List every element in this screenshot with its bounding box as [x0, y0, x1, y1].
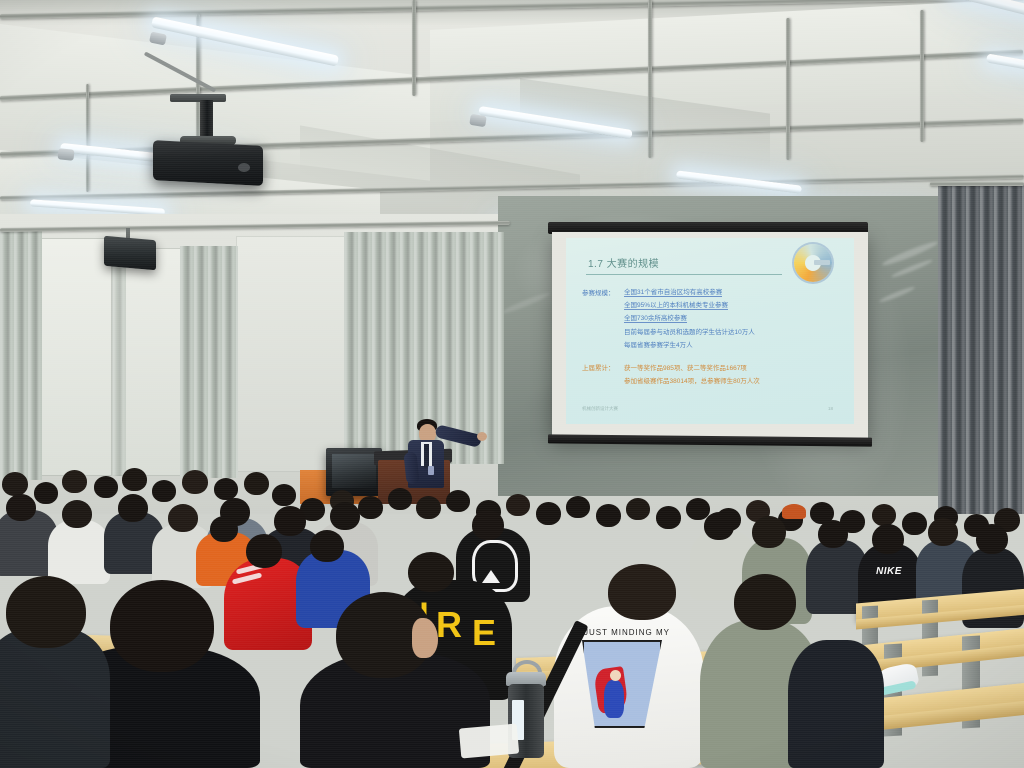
- student-head: [122, 468, 147, 491]
- student-head: [168, 504, 198, 532]
- student-head: [566, 496, 590, 518]
- student-head: [902, 512, 927, 535]
- student-head: [446, 490, 470, 512]
- student-head: [274, 506, 306, 536]
- student-head: [608, 564, 676, 620]
- projector-lens: [238, 163, 250, 172]
- nike-logo-text: NIKE: [876, 566, 902, 577]
- slide-body-line: 全国31个省市自治区均有高校参赛: [624, 286, 722, 297]
- curtain-left: [0, 230, 42, 480]
- slide-footer-left: 机械创新设计大赛: [582, 406, 618, 412]
- student-head: [246, 534, 282, 568]
- student-head: [928, 518, 958, 546]
- student-head: [358, 496, 383, 519]
- paper-sheet: [459, 724, 519, 759]
- slide-section-label: 参赛规模：: [582, 287, 615, 297]
- slide-body-line: 参加省级赛作品38014项，总参赛师生80万人次: [624, 375, 760, 385]
- student-head: [152, 480, 176, 502]
- slide-body-line: 全国95%以上的本科机械类专业参赛: [624, 299, 728, 310]
- slide-title-rule: [586, 274, 782, 275]
- student-head: [330, 502, 360, 530]
- conduit-pipe: [786, 18, 790, 160]
- student-head: [872, 504, 896, 526]
- student-head: [416, 496, 441, 519]
- wall-speaker: [104, 236, 156, 271]
- student-body: [788, 640, 884, 768]
- projector-mount-plate: [170, 94, 226, 102]
- presenter-badge: [428, 466, 434, 475]
- ceiling-light-cap: [57, 148, 74, 161]
- hero-suit: [604, 680, 624, 718]
- tee-slogan: JUST MINDING MY: [584, 628, 670, 637]
- student-head: [2, 472, 28, 496]
- curtain-rail: [930, 182, 1024, 186]
- student-head: [536, 502, 561, 525]
- student-head: [818, 520, 848, 548]
- student-hair-dyed: [782, 504, 806, 519]
- equipment-rack-glass: [332, 454, 376, 488]
- student-head: [976, 524, 1008, 554]
- student-head: [506, 494, 530, 516]
- hero-head: [610, 670, 621, 681]
- slide-body-line: 目前每届参与动员和选题的学生估计达10万人: [624, 326, 755, 336]
- conduit-pipe: [86, 84, 89, 192]
- student-head: [214, 478, 238, 500]
- tee-letter: R: [436, 604, 462, 646]
- student-head: [244, 472, 269, 495]
- student-head: [62, 500, 92, 528]
- ceiling-light-cap: [469, 114, 487, 127]
- conduit-pipe: [648, 0, 652, 158]
- slide-body-line: 每届省赛参赛学生4万人: [624, 339, 693, 349]
- student-head: [94, 476, 118, 498]
- student-head: [472, 510, 504, 540]
- student-head: [272, 484, 296, 506]
- presenter-tie: [424, 444, 429, 468]
- student-head: [62, 470, 87, 493]
- student-head: [388, 488, 412, 510]
- tee-letter: E: [472, 612, 496, 654]
- student-head: [626, 498, 650, 520]
- slide: 1.7 大赛的规模 参赛规模： 全国31个省市自治区均有高校参赛 全国95%以上…: [566, 238, 854, 424]
- curtain-left: [180, 246, 238, 478]
- wall-panel: [36, 238, 112, 476]
- student-head: [310, 530, 344, 562]
- student-head: [408, 552, 454, 592]
- curtain-left: [112, 248, 126, 476]
- student-head: [734, 574, 796, 630]
- student-head: [118, 494, 148, 522]
- student-head: [656, 506, 681, 529]
- slide-title: 1.7 大赛的规模: [588, 255, 659, 270]
- presenter-hand: [477, 432, 487, 441]
- conduit-pipe: [412, 0, 416, 96]
- student-body: [0, 628, 110, 768]
- student-head: [182, 470, 208, 494]
- curtain-right: [938, 184, 1024, 514]
- student-head: [752, 516, 786, 548]
- student-head: [6, 494, 36, 521]
- conduit-pipe: [920, 10, 924, 142]
- student-head: [34, 482, 58, 504]
- wall-panel: [236, 236, 348, 472]
- slide-body-line: 获一等奖作品985项、获二等奖作品1667项: [624, 362, 747, 372]
- projection-screen: 1.7 大赛的规模 参赛规模： 全国31个省市自治区均有高校参赛 全国95%以上…: [552, 232, 868, 438]
- lecture-hall-photo: 1.7 大赛的规模 参赛规模： 全国31个省市自治区均有高校参赛 全国95%以上…: [0, 0, 1024, 768]
- student-head: [210, 516, 238, 542]
- tee-star-icon: [482, 570, 500, 583]
- student-head: [872, 524, 904, 554]
- competition-logo-bar: [814, 260, 830, 265]
- student-head: [110, 580, 214, 672]
- student-head: [6, 576, 86, 648]
- slide-section-label: 上届累计：: [582, 362, 615, 372]
- student-body: [48, 520, 110, 584]
- student-face: [412, 618, 438, 658]
- student-head: [596, 504, 621, 527]
- slide-footer-right: 18: [828, 406, 833, 411]
- student-head: [704, 512, 734, 540]
- slide-body-line: 全国730余所高校参赛: [624, 312, 687, 323]
- projector-mount-pole: [200, 100, 213, 138]
